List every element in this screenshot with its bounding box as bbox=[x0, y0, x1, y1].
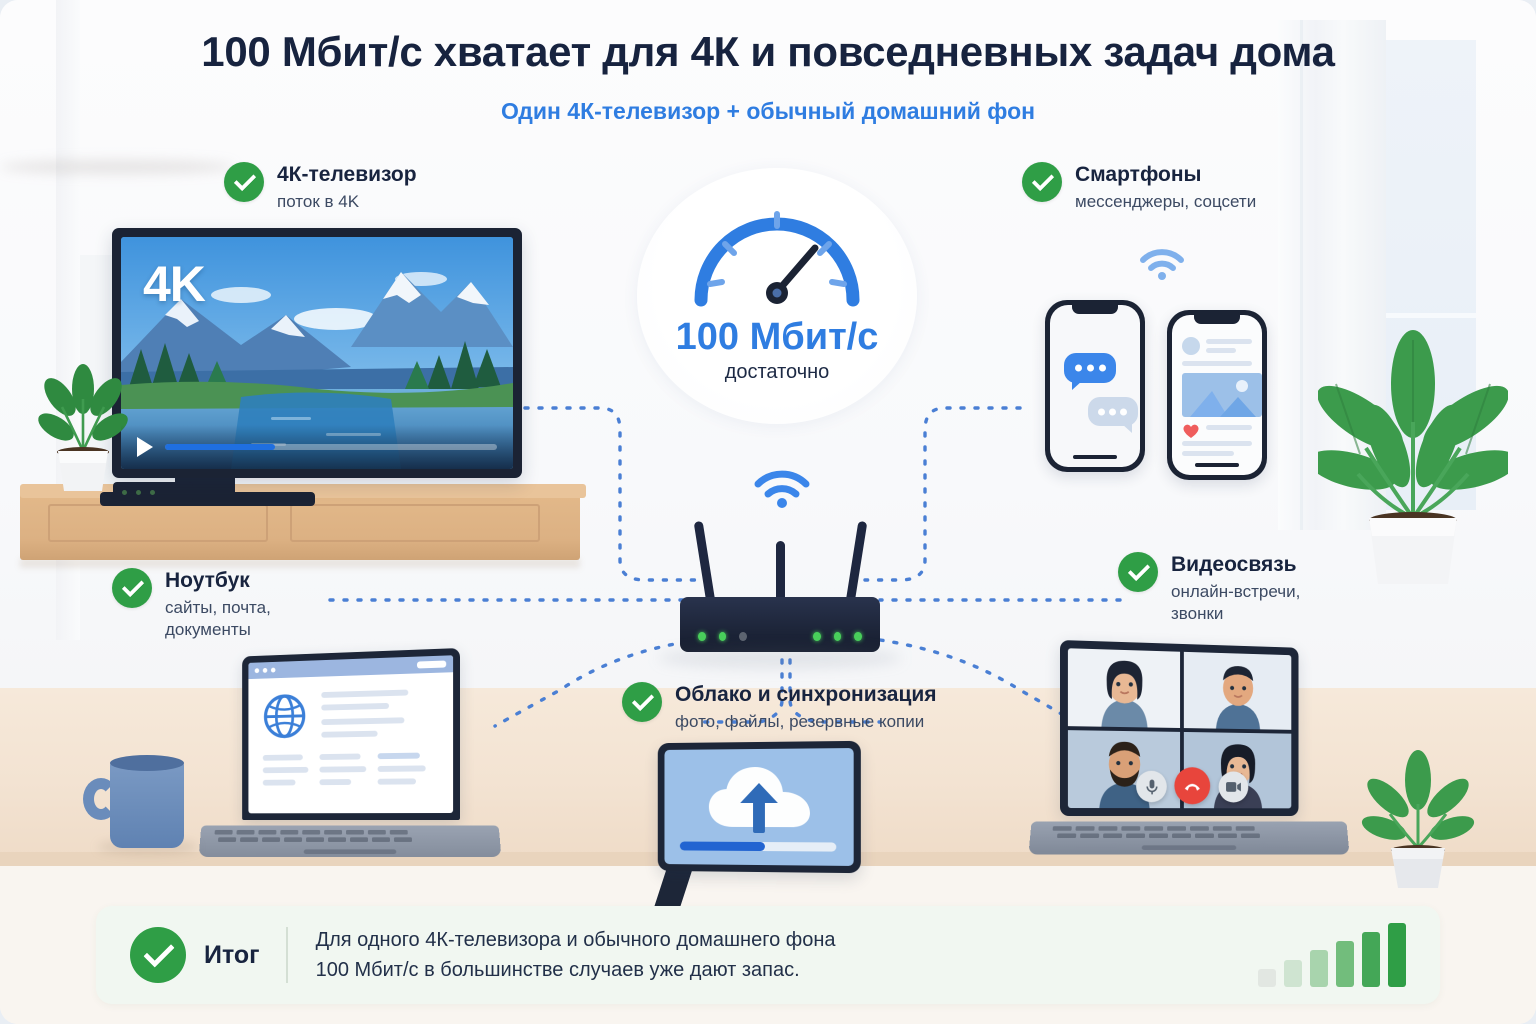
summary-badge-label: Итог bbox=[204, 941, 260, 970]
laptop-browsing bbox=[228, 648, 460, 820]
label-title: 4К-телевизор bbox=[277, 163, 417, 188]
chat-bubble-icon bbox=[1088, 397, 1138, 426]
participant-tile bbox=[1184, 652, 1291, 730]
label-smartphones: Смартфоны мессенджеры, соцсети bbox=[1022, 162, 1256, 213]
trackpad bbox=[304, 849, 397, 854]
camera-icon[interactable] bbox=[1219, 771, 1249, 802]
check-icon bbox=[130, 927, 186, 983]
label-title: Ноутбук bbox=[165, 569, 271, 594]
infographic-canvas: 100 Мбит/с хватает для 4К и повседневных… bbox=[0, 0, 1536, 1024]
check-icon bbox=[1118, 552, 1158, 592]
router-led bbox=[698, 632, 706, 641]
wifi-icon bbox=[1138, 246, 1186, 280]
router-led bbox=[834, 632, 842, 641]
gauge-caption: достаточно bbox=[725, 361, 830, 384]
keyboard bbox=[214, 830, 430, 847]
router-led bbox=[739, 632, 747, 641]
play-icon[interactable] bbox=[137, 437, 153, 457]
router-antenna-center bbox=[776, 541, 785, 603]
router-led bbox=[719, 632, 727, 641]
label-cloud: Облако и синхронизация фото, файлы, резе… bbox=[622, 682, 937, 733]
trackpad bbox=[1142, 845, 1237, 850]
summary-divider bbox=[286, 927, 288, 983]
label-title: Смартфоны bbox=[1075, 163, 1256, 188]
microphone-icon[interactable] bbox=[1136, 771, 1167, 803]
label-subtitle: фото, файлы, резервные копии bbox=[675, 711, 937, 733]
cloud-upload-icon bbox=[707, 763, 812, 838]
speedometer-icon bbox=[677, 192, 877, 310]
label-subtitle: онлайн-встречи, звонки bbox=[1171, 581, 1300, 626]
signal-bar-4 bbox=[1336, 941, 1354, 987]
signal-bar-5 bbox=[1362, 932, 1380, 987]
check-icon bbox=[112, 568, 152, 608]
router-body bbox=[680, 597, 880, 652]
label-laptop: Ноутбук сайты, почта, документы bbox=[112, 568, 271, 642]
check-icon bbox=[1022, 162, 1062, 202]
browser-window bbox=[248, 655, 453, 813]
tv-screen: 4K bbox=[121, 237, 513, 469]
gauge-value: 100 Мбит/с bbox=[676, 316, 879, 359]
summary-text: Для одного 4К-телевизора и обычного дома… bbox=[316, 925, 836, 986]
signal-bar-6 bbox=[1388, 923, 1406, 987]
phone-messenger bbox=[1045, 300, 1145, 472]
globe-icon bbox=[263, 693, 307, 740]
signal-bar-3 bbox=[1310, 950, 1328, 987]
label-subtitle: сайты, почта, документы bbox=[165, 597, 271, 642]
upload-progress-fill bbox=[680, 842, 765, 852]
signal-bar-1 bbox=[1258, 969, 1276, 987]
tv-4k-badge: 4K bbox=[143, 255, 205, 313]
keyboard bbox=[1052, 826, 1283, 842]
speed-gauge-card: 100 Мбит/с достаточно bbox=[637, 168, 917, 424]
label-title: Видеосвязь bbox=[1171, 553, 1300, 578]
chat-bubble-icon bbox=[1064, 353, 1116, 383]
check-icon bbox=[224, 162, 264, 202]
router-led bbox=[813, 632, 821, 641]
check-icon bbox=[622, 682, 662, 722]
tablet-cloud-sync bbox=[655, 742, 860, 872]
phone-social-feed bbox=[1167, 310, 1267, 480]
label-subtitle: мессенджеры, соцсети bbox=[1075, 191, 1256, 213]
plant-desk bbox=[1358, 742, 1478, 892]
plant-large bbox=[1318, 322, 1508, 592]
signal-bar-2 bbox=[1284, 960, 1302, 987]
hangup-icon[interactable] bbox=[1174, 767, 1210, 804]
progress-bar[interactable] bbox=[165, 444, 497, 450]
laptop-videocall bbox=[1060, 640, 1312, 816]
link-phones-router bbox=[865, 408, 1020, 580]
mug-rim bbox=[110, 755, 184, 771]
label-videocall: Видеосвязь онлайн-встречи, звонки bbox=[1118, 552, 1300, 626]
label-subtitle: поток в 4K bbox=[277, 191, 417, 213]
television: 4K bbox=[112, 228, 522, 478]
laptop-base bbox=[1028, 822, 1349, 855]
label-title: Облако и синхронизация bbox=[675, 683, 937, 708]
wifi-icon bbox=[752, 466, 812, 508]
signal-strength-bars bbox=[1258, 923, 1406, 987]
link-tv-router bbox=[525, 408, 700, 580]
router-led bbox=[854, 632, 862, 641]
participant-tile bbox=[1068, 648, 1180, 728]
photo-placeholder bbox=[1182, 373, 1262, 417]
coffee-mug bbox=[110, 760, 184, 848]
heart-icon bbox=[1182, 423, 1200, 439]
upload-progress-track bbox=[680, 842, 836, 852]
tv-playback-bar bbox=[121, 425, 513, 469]
laptop-base bbox=[199, 825, 502, 857]
summary-card: Итог Для одного 4К-телевизора и обычного… bbox=[96, 906, 1440, 1004]
label-tv: 4К-телевизор поток в 4K bbox=[224, 162, 417, 213]
